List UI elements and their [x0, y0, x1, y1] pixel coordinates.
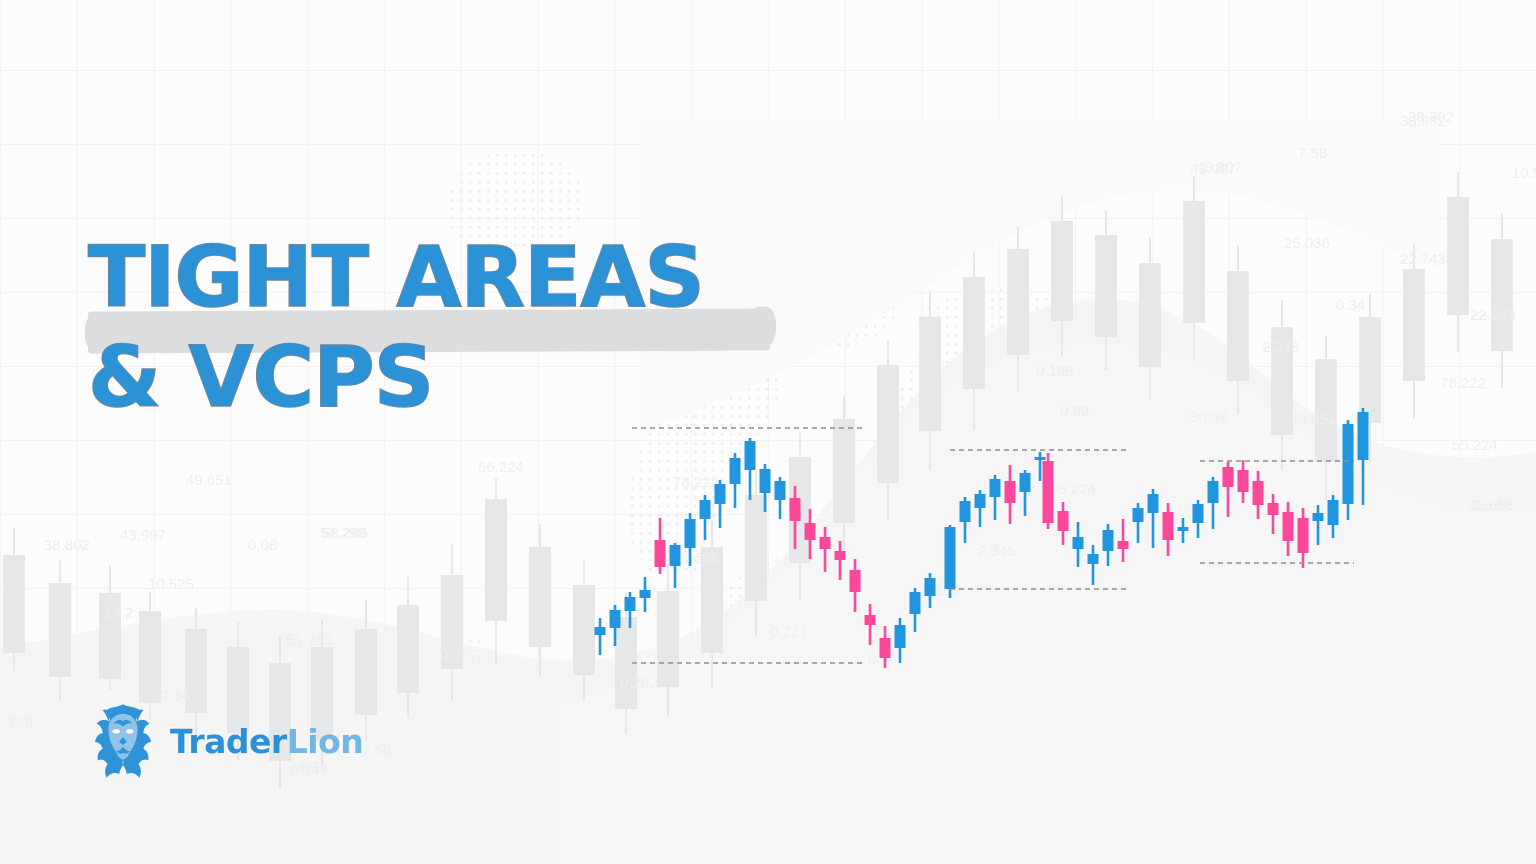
candlestick [910, 588, 921, 632]
candlestick [685, 513, 696, 566]
candlestick [1328, 495, 1339, 538]
candle-body [1223, 467, 1234, 487]
candlestick [1043, 453, 1054, 529]
candle-body [610, 610, 621, 628]
candlestick [945, 525, 956, 598]
page-title: TIGHT AREAS & VCPS [88, 238, 848, 416]
candle-series [595, 408, 1369, 668]
candle-body [655, 540, 666, 567]
candlestick [790, 486, 801, 549]
candlestick [835, 541, 846, 580]
candlestick [670, 543, 681, 588]
candle-body [1358, 412, 1369, 460]
candlestick [1253, 471, 1264, 519]
candle-body [1328, 500, 1339, 525]
candlestick [1118, 519, 1129, 562]
candle-body [1133, 508, 1144, 522]
brand-logo[interactable]: TraderLion [92, 702, 363, 780]
candlestick [805, 509, 816, 559]
candlestick [1358, 408, 1369, 505]
wordmark-lion: Lion [287, 722, 364, 761]
candlestick [880, 626, 891, 668]
candlestick [990, 475, 1001, 520]
candle-body [760, 469, 771, 493]
candle-body [730, 458, 741, 484]
candlestick [895, 618, 906, 663]
candle-body [1208, 481, 1219, 503]
candlestick [745, 438, 756, 500]
poster-canvas: 38.90243.9977.5810.522.74325.03622.7432.… [0, 0, 1536, 864]
candlestick [1073, 522, 1084, 567]
candlestick [640, 577, 651, 612]
candle-body [685, 519, 696, 548]
candlestick [715, 480, 726, 528]
candle-body [1253, 481, 1264, 505]
candle-body [595, 627, 606, 635]
candlestick [1103, 524, 1114, 566]
candlestick [1133, 503, 1144, 543]
candlestick [655, 518, 666, 574]
lion-head-icon [92, 702, 154, 780]
candlestick [700, 495, 711, 540]
candle-body [835, 551, 846, 560]
candle-body [1005, 481, 1016, 503]
candlestick [1343, 420, 1354, 520]
candle-body [1118, 541, 1129, 549]
candlestick [625, 592, 636, 628]
candle-body [1163, 512, 1174, 540]
candle-body [1193, 504, 1204, 523]
candlestick [1148, 489, 1159, 548]
candle-body [1073, 537, 1084, 549]
candlestick [1193, 500, 1204, 538]
candlestick [865, 604, 876, 645]
candlestick [760, 464, 771, 512]
candlestick [1268, 494, 1279, 534]
candle-body [745, 441, 756, 470]
candlestick [820, 527, 831, 572]
candle-body [895, 625, 906, 648]
candle-body [1178, 527, 1189, 531]
candle-body [670, 545, 681, 566]
candle-body [975, 494, 986, 508]
title-line-2: & VCPS [88, 338, 848, 416]
candlestick [1020, 470, 1031, 516]
candle-body [1238, 470, 1249, 492]
brand-wordmark: TraderLion [170, 725, 363, 758]
candle-body [1148, 494, 1159, 513]
candlestick [1088, 545, 1099, 585]
candlestick [925, 573, 936, 608]
candle-body [910, 592, 921, 614]
candlestick [730, 453, 741, 508]
candlestick [960, 497, 971, 543]
candlestick [1163, 503, 1174, 556]
candlestick [610, 605, 621, 646]
candle-body [625, 597, 636, 611]
candlestick [775, 477, 786, 519]
candlestick [1313, 505, 1324, 545]
candle-body [1343, 424, 1354, 504]
candle-body [640, 590, 651, 598]
candle-body [850, 570, 861, 592]
candle-body [990, 479, 1001, 497]
candle-body [960, 501, 971, 522]
candlestick [1238, 460, 1249, 503]
wordmark-trader: Trader [170, 722, 287, 761]
candle-body [790, 498, 801, 521]
candlestick [1058, 502, 1069, 545]
candle-body [775, 481, 786, 500]
candle-body [1088, 554, 1099, 564]
candlestick [595, 618, 606, 655]
candle-body [925, 578, 936, 596]
candlestick [1208, 477, 1219, 529]
candle-body [1058, 511, 1069, 531]
candlestick [1283, 502, 1294, 556]
candlestick [850, 559, 861, 612]
candlestick [1223, 462, 1234, 517]
candle-body [1020, 473, 1031, 492]
candlestick [1298, 508, 1309, 568]
candle-body [880, 638, 891, 658]
candle-body [715, 484, 726, 504]
candle-body [945, 527, 956, 589]
candle-body [820, 537, 831, 549]
title-line-1: TIGHT AREAS [88, 238, 848, 316]
candle-body [1283, 512, 1294, 541]
candlestick [1178, 518, 1189, 543]
candle-body [1043, 461, 1054, 523]
candle-body [1103, 530, 1114, 551]
candle-body [700, 500, 711, 519]
candle-body [865, 615, 876, 625]
candle-body [1298, 518, 1309, 553]
candle-body [1035, 457, 1046, 460]
candlestick [975, 490, 986, 527]
candle-body [1268, 503, 1279, 515]
candle-body [805, 523, 816, 540]
candle-body [1313, 513, 1324, 521]
candlestick [1005, 465, 1016, 524]
